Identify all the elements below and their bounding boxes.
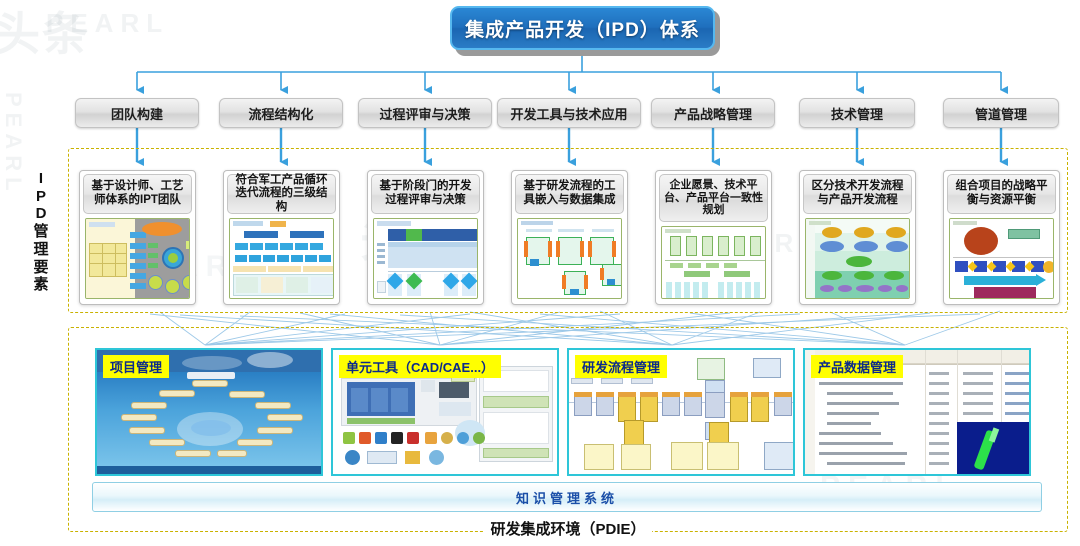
pillar-head-dev-tools[interactable]: 开发工具与技术应用 bbox=[497, 98, 641, 128]
side-label-char-0: I bbox=[39, 171, 43, 187]
element-card-team-thumb bbox=[85, 218, 190, 299]
element-card-vision-platform[interactable]: 企业愿景、技术平台、产品平台一致性规划 bbox=[655, 170, 772, 305]
side-label-char-4: 理 bbox=[33, 242, 48, 258]
element-card-review-thumb bbox=[373, 218, 478, 299]
side-label-char-3: 管 bbox=[33, 224, 48, 240]
pdie-caption-text: 研发集成环境（PDIE） bbox=[484, 518, 651, 539]
system-panel-unit-tools-tag: 单元工具（CAD/CAE...） bbox=[339, 355, 501, 378]
element-card-process-title: 符合军工产品循环迭代流程的三级结构 bbox=[227, 174, 336, 214]
element-card-portfolio-balance[interactable]: 组合项目的战略平衡与资源平衡 bbox=[943, 170, 1060, 305]
pillar-head-process-structure[interactable]: 流程结构化 bbox=[219, 98, 343, 128]
pillar-head-product-strategy[interactable]: 产品战略管理 bbox=[651, 98, 775, 128]
pillar-head-review-decision[interactable]: 过程评审与决策 bbox=[358, 98, 492, 128]
pillar-head-pipeline-management[interactable]: 管道管理 bbox=[943, 98, 1059, 128]
system-panel-project-management[interactable]: 项目管理 bbox=[95, 348, 323, 476]
system-panel-product-data[interactable]: 产品数据管理 bbox=[803, 348, 1031, 476]
system-panel-project-management-tag: 项目管理 bbox=[103, 355, 169, 378]
element-card-tool-integration-title: 基于研发流程的工具嵌入与数据集成 bbox=[515, 174, 624, 214]
knowledge-management-bar[interactable]: 知识管理系统 bbox=[92, 482, 1042, 512]
page-title: 集成产品开发（IPD）体系 bbox=[450, 6, 715, 50]
system-panel-product-data-tag: 产品数据管理 bbox=[811, 355, 903, 378]
pillar-head-tech-management[interactable]: 技术管理 bbox=[799, 98, 915, 128]
element-card-process-thumb bbox=[229, 218, 334, 299]
side-label-char-1: P bbox=[36, 189, 46, 205]
pdie-caption: 研发集成环境（PDIE） bbox=[68, 518, 1068, 539]
system-panel-unit-tools[interactable]: 单元工具（CAD/CAE...） bbox=[331, 348, 559, 476]
element-card-tech-vs-product[interactable]: 区分技术开发流程与产品开发流程 bbox=[799, 170, 916, 305]
side-label-char-6: 素 bbox=[33, 277, 48, 293]
pillar-head-team-building[interactable]: 团队构建 bbox=[75, 98, 199, 128]
element-card-portfolio-balance-thumb bbox=[949, 218, 1054, 299]
element-card-portfolio-balance-title: 组合项目的战略平衡与资源平衡 bbox=[947, 174, 1056, 214]
system-panel-rd-process-tag: 研发流程管理 bbox=[575, 355, 667, 378]
side-label-char-2: D bbox=[36, 206, 47, 222]
element-card-review-title: 基于阶段门的开发过程评审与决策 bbox=[371, 174, 480, 214]
element-card-process[interactable]: 符合军工产品循环迭代流程的三级结构 bbox=[223, 170, 340, 305]
element-card-tech-vs-product-title: 区分技术开发流程与产品开发流程 bbox=[803, 174, 912, 214]
diagram-canvas: 头条 PEARL PEARL 头条 PEARL PEARL PEARL bbox=[0, 0, 1080, 546]
element-card-team-title: 基于设计师、工艺师体系的IPT团队 bbox=[83, 174, 192, 214]
element-card-team[interactable]: 基于设计师、工艺师体系的IPT团队 bbox=[79, 170, 196, 305]
ipd-elements-side-label: I P D 管 理 要 素 bbox=[24, 152, 58, 312]
element-card-tool-integration[interactable]: 基于研发流程的工具嵌入与数据集成 bbox=[511, 170, 628, 305]
system-panel-rd-process[interactable]: 研发流程管理 bbox=[567, 348, 795, 476]
element-card-vision-platform-thumb bbox=[661, 226, 766, 299]
element-card-tech-vs-product-thumb bbox=[805, 218, 910, 299]
element-card-review[interactable]: 基于阶段门的开发过程评审与决策 bbox=[367, 170, 484, 305]
element-card-vision-platform-title: 企业愿景、技术平台、产品平台一致性规划 bbox=[659, 174, 768, 222]
element-card-tool-integration-thumb bbox=[517, 218, 622, 299]
side-label-char-5: 要 bbox=[33, 260, 48, 276]
